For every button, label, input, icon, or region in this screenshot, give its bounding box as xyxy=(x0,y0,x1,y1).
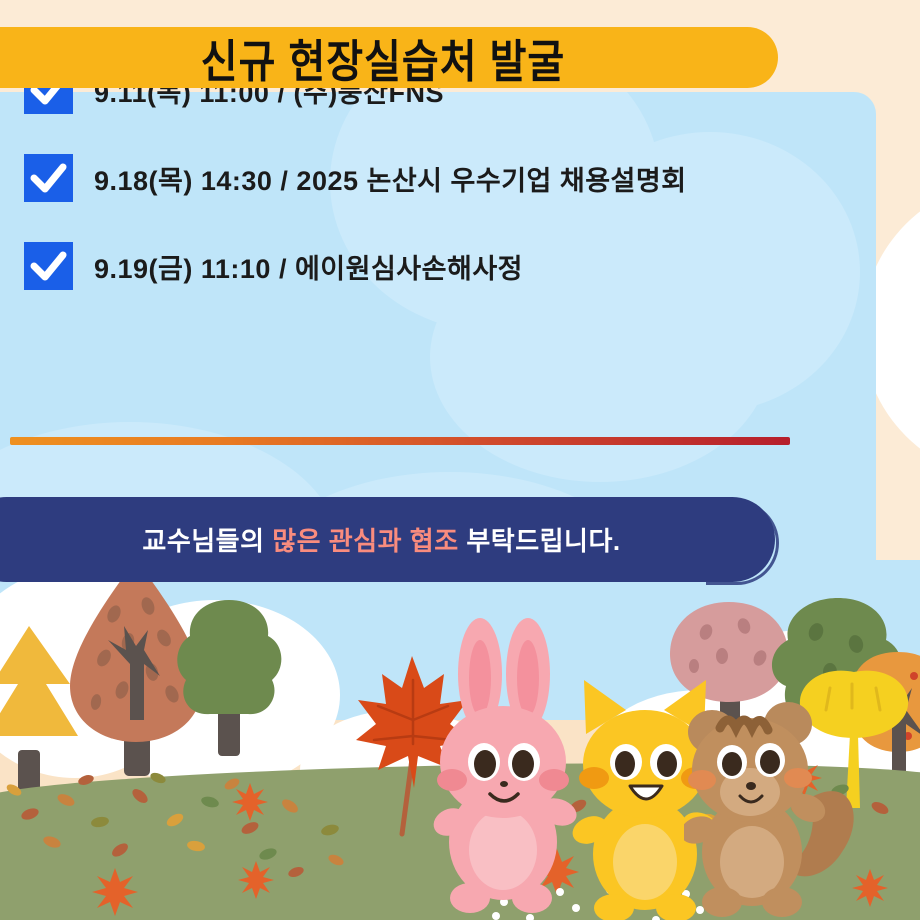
tree-olive-round xyxy=(172,596,288,758)
footer-text-before: 교수님들의 xyxy=(142,526,272,556)
checkbox-checked-icon[interactable] xyxy=(24,154,73,202)
page-title: 신규 현장실습처 발굴 xyxy=(173,25,565,90)
title-banner: 신규 현장실습처 발굴 xyxy=(0,27,778,88)
autumn-scene-illustration xyxy=(0,560,920,920)
gradient-divider xyxy=(10,437,790,445)
footer-text-highlight: 많은 관심과 협조 xyxy=(272,526,458,556)
character-bear xyxy=(684,688,854,920)
footer-banner: 교수님들의 많은 관심과 협조 부탁드립니다. xyxy=(0,497,775,582)
character-rabbit xyxy=(428,616,578,920)
list-item[interactable]: 9.19(금) 11:10 / 에이원심사손해사정 xyxy=(24,242,687,290)
promo-card: 신규 현장실습처 발굴 9.11(목) 11:00 / (주)풍산FNS 9.1… xyxy=(0,0,920,920)
list-item[interactable]: 9.18(목) 14:30 / 2025 논산시 우수기업 채용설명회 xyxy=(24,154,687,202)
footer-text-after: 부탁드립니다. xyxy=(459,526,621,556)
list-item-label: 9.18(목) 14:30 / 2025 논산시 우수기업 채용설명회 xyxy=(94,159,687,198)
footer-banner-text: 교수님들의 많은 관심과 협조 부탁드립니다. xyxy=(118,521,620,558)
list-item-label: 9.19(금) 11:10 / 에이원심사손해사정 xyxy=(94,247,523,286)
checkbox-checked-icon[interactable] xyxy=(24,242,73,290)
schedule-checklist: 9.11(목) 11:00 / (주)풍산FNS 9.18(목) 14:30 /… xyxy=(24,66,687,330)
